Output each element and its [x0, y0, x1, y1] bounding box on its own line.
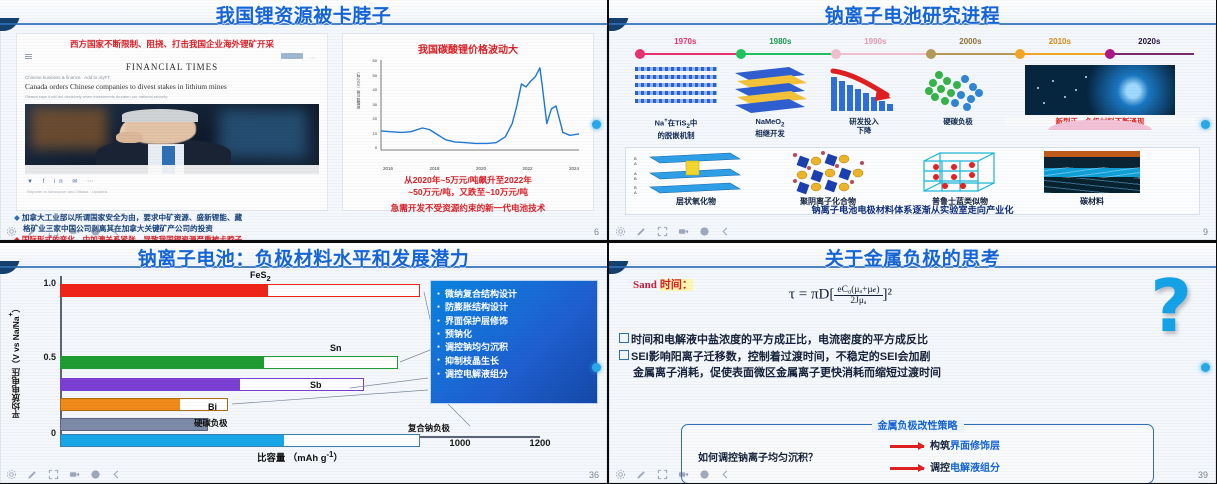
bar-outline: [60, 284, 420, 297]
square-bullet-icon: [619, 350, 629, 360]
formula-lhs: τ = πD[: [789, 286, 834, 302]
slide-title: 钠离子电池：负极材料水平和发展潜力: [0, 244, 607, 271]
bar-outline: [60, 434, 420, 447]
slide-thumbnail-anode-chart[interactable]: 钠离子电池：负极材料水平和发展潜力 平均放电电压（V vs Na/Na+） 1.…: [0, 243, 607, 483]
slide-thumbnail-metal-anode[interactable]: 关于金属负极的思考 Sand 时间： τ = πD[eC₀(μₐ+μ𝒸)2Jμₐ…: [609, 243, 1216, 483]
strategy-answers: 构筑界面修饰层 调控电解液组分: [890, 437, 1000, 481]
strategy-title-text: 金属负极改性策略: [872, 421, 964, 432]
xtick: 2022: [522, 166, 532, 171]
timeline-segment: [736, 53, 831, 55]
price-note-line3: 急需开发不受资源约束的新一代电池技术: [343, 202, 593, 214]
material-carbon: 碳材料: [1026, 151, 1158, 207]
carbon-micrograph: [1044, 151, 1140, 193]
strategy-question: 如何调控钠离子均匀沉积？: [698, 449, 818, 464]
xtick: 2016: [383, 166, 393, 171]
timeline-decade-label: 2000s: [959, 37, 981, 46]
timeline-decade-label: 2020s: [1138, 37, 1160, 46]
news-clipping: 西方国家不断限制、阻挠、打击我国企业海外锂矿开采 ⋯ FINANCIAL TIM…: [16, 33, 328, 211]
video-icon[interactable]: [678, 469, 689, 480]
timeline-decade-label: 1990s: [864, 37, 886, 46]
timeline-era-caption: NaMeO2相继开发: [723, 117, 817, 138]
timeline-node-1990s: [831, 49, 841, 59]
pen-icon[interactable]: [27, 226, 38, 237]
timeline-decade-label: 1970s: [674, 37, 696, 46]
ft-byline: Reporter in Vancouver and Ottawa · Updat…: [27, 189, 317, 194]
fullscreen-icon[interactable]: [48, 226, 59, 237]
bar-label-sb: Sb: [310, 380, 322, 390]
bar-sn: [60, 356, 398, 369]
slide-body: 平均放电电压（V vs Na/Na+） 1.0 0.5 0 200 400 60…: [0, 270, 607, 461]
point-text: 金属离子消耗，促使表面微区金属离子更快消耗而缩短过渡时间: [619, 365, 1204, 382]
timeline-era-2020s: 新型正、负极材料不断涌现: [1005, 65, 1195, 126]
bar-label-sn: Sn: [330, 343, 342, 353]
sand-label-en: Sand: [633, 279, 657, 291]
chart-ytick: 0.5: [20, 352, 56, 362]
bullet-text: 加拿大工业部以所谓国家安全为由，要求中矿资源、盛新锂能、藏: [22, 213, 242, 222]
research-timeline: 1970s 1980s 1990s 2000s 2010s 2020s: [625, 31, 1200, 143]
timeline-era-1980s: NaMeO2相继开发: [723, 65, 817, 138]
news-photo: [25, 104, 319, 174]
chart-xaxis-title: 比容量 （mAh g-1）: [60, 450, 540, 464]
bar-label-composite-sodium: 复合钠负极: [408, 422, 450, 434]
slide-toolbar[interactable]: [6, 469, 122, 480]
timeline-segment: [1015, 53, 1104, 55]
back-icon[interactable]: [111, 226, 122, 237]
page-number: 6: [594, 227, 599, 237]
gear-icon[interactable]: [615, 469, 626, 480]
bar-label-bi: Bi: [208, 402, 217, 412]
timeline-node-2020s: [1105, 49, 1115, 59]
square-bullet-icon: [619, 333, 629, 343]
photo-bg-left: [31, 107, 107, 149]
list-item: 预钠化: [437, 328, 597, 341]
prussian-blue-svg: [894, 151, 1026, 195]
chart-ytick: 0: [20, 428, 56, 438]
video-icon[interactable]: [678, 226, 689, 237]
layered-oxide-crystal: BA AB BA: [630, 151, 762, 195]
point-text: 时间和电解液中盐浓度的平方成正比，电流密度的平方成反比: [631, 334, 928, 346]
record-icon[interactable]: [699, 469, 710, 480]
timeline-era-1970s: Na+在TiS2中的脱嵌机制: [629, 65, 723, 140]
timeline-era-caption: 硬碳负极: [911, 117, 1005, 126]
slide-caption: 钠离子电池电极材料体系逐渐从实验室走向产业化: [609, 202, 1216, 216]
record-icon[interactable]: [699, 226, 710, 237]
timeline-decade-label: 1980s: [769, 37, 791, 46]
nanoparticle-image: [1005, 65, 1195, 115]
timeline-node-1970s: [635, 49, 645, 59]
page-number: 9: [1203, 227, 1208, 237]
more-icon: ⋯: [309, 55, 315, 62]
xtick: 2018: [429, 166, 439, 171]
ft-kicker: Chinese business & finance · Add to myFT: [25, 75, 319, 80]
timeline-segment: [926, 53, 1015, 55]
molecule-cluster-icon: [911, 65, 1005, 115]
timeline-node-2010s: [1015, 49, 1025, 59]
pen-icon[interactable]: [27, 469, 38, 480]
gear-icon[interactable]: [615, 226, 626, 237]
metal-anode-points: 时间和电解液中盐浓度的平方成正比，电流密度的平方成反比 SEI影响阳离子迁移数，…: [619, 332, 1204, 382]
price-note-line2: ~50万元/吨，又跌至~10万元/吨: [343, 186, 593, 198]
formula-fraction: eC₀(μₐ+μ𝒸)2Jμₐ: [834, 284, 882, 306]
svg-text:A: A: [634, 161, 637, 166]
list-item: SEI影响阳离子迁移数，控制着过渡时间，不稳定的SEI会加剧: [619, 349, 1204, 366]
answer-prefix: 构筑: [930, 441, 950, 452]
anode-capacity-chart: 平均放电电压（V vs Na/Na+） 1.0 0.5 0 200 400 60…: [0, 270, 607, 461]
video-icon[interactable]: [69, 226, 80, 237]
strategy-list: 微纳复合结构设计 防膨胀结构设计 界面保护层修饰 预钠化 调控钠均匀沉积 抑制枝…: [437, 288, 597, 381]
ft-nav-bar: ⋯: [25, 52, 319, 61]
ft-headline: Canada orders Chinese companies to dives…: [25, 82, 319, 91]
grid-gutter-horizontal: [0, 240, 1217, 243]
slide-body: 西方国家不断限制、阻挠、打击我国企业海外锂矿开采 ⋯ FINANCIAL TIM…: [0, 27, 607, 218]
photo-bg-right: [219, 109, 307, 158]
chart-xtick: 1000: [449, 438, 470, 449]
timeline-node-1980s: [736, 49, 746, 59]
layered-oxide-svg: BA AB BA: [630, 151, 762, 195]
layered-oxide-icon: [723, 65, 817, 115]
subscribe-button[interactable]: [281, 53, 303, 59]
chart-xtick: 1200: [529, 438, 550, 449]
gear-icon[interactable]: [6, 469, 17, 480]
back-icon[interactable]: [111, 469, 122, 480]
laser-pointer-dot: [592, 363, 601, 372]
nanoparticle-micrograph: [1025, 65, 1175, 115]
list-item: 微纳复合结构设计: [437, 288, 597, 301]
strategy-panel: 金属负极改性策略 如何调控钠离子均匀沉积？ 构筑界面修饰层 调控电解液组分: [681, 424, 1154, 483]
slide-title: 我国锂资源被卡脖子: [0, 1, 607, 28]
video-icon[interactable]: [69, 469, 80, 480]
photo-caption-strip: [25, 165, 319, 174]
bar-hard-carbon: [60, 418, 208, 431]
list-item: 构筑界面修饰层: [890, 437, 1000, 452]
layered-structure-icon: [629, 65, 723, 115]
laser-pointer-dot: [592, 120, 601, 129]
formula-denominator: 2Jμₐ: [834, 296, 882, 306]
fan-highlight-decoration: [1040, 118, 1160, 130]
answer-prefix: 调控: [930, 463, 950, 474]
pen-icon[interactable]: [636, 469, 647, 480]
hamburger-icon: [25, 54, 32, 59]
xtick: 2024: [569, 166, 579, 171]
slide-title: 钠离子电池研究进程: [609, 1, 1216, 28]
sand-time-label: Sand 时间：: [633, 276, 693, 292]
price-line-svg: [357, 58, 583, 158]
list-item: ◆加拿大工业部以所谓国家安全为由，要求中矿资源、盛新锂能、藏: [14, 212, 344, 223]
list-item: 时间和电解液中盐浓度的平方成正比，电流密度的平方成反比: [619, 332, 1204, 349]
list-item: 调控电解液组分: [890, 459, 1000, 474]
material-prussian-blue: 普鲁士蓝类似物: [894, 151, 1026, 207]
bar-outline: [60, 356, 398, 369]
list-item: 防膨胀结构设计: [437, 301, 597, 314]
material-polyanion: 聚阴离子化合物: [762, 151, 894, 207]
bar-label-fes2: FeS2: [250, 270, 271, 283]
slide-body: Sand 时间： τ = πD[eC₀(μₐ+μ𝒸)2Jμₐ]² ? 时间和电解…: [609, 270, 1216, 461]
back-icon[interactable]: [720, 469, 731, 480]
photo-hand: [116, 132, 142, 143]
page-number: 36: [589, 470, 599, 480]
polyanion-crystal: [762, 151, 894, 195]
sand-time-formula: τ = πD[eC₀(μₐ+μ𝒸)2Jμₐ]²: [789, 284, 892, 306]
timeline-rail: 1970s 1980s 1990s 2000s 2010s 2020s: [635, 53, 1194, 55]
laser-pointer-dot: [1201, 120, 1210, 129]
bar-label-hard-carbon: 硬碳负极: [194, 417, 228, 429]
material-layered-oxide: BA AB BA 层状氧化物: [630, 151, 762, 207]
sand-label-cn: 时间：: [660, 279, 693, 291]
strategy-infobox: 微纳复合结构设计 防膨胀结构设计 界面保护层修饰 预钠化 调控钠均匀沉积 抑制枝…: [430, 280, 598, 404]
list-item: 调控钠均匀沉积: [437, 341, 597, 354]
timeline-segment: [1105, 53, 1194, 55]
point-text: SEI影响阳离子迁移数，控制着过渡时间，不稳定的SEI会加剧: [631, 351, 930, 363]
slide-thumbnail-lithium[interactable]: 我国锂资源被卡脖子 西方国家不断限制、阻挠、打击我国企业海外锂矿开采 ⋯ FIN…: [0, 0, 607, 240]
slide-thumbnail-timeline[interactable]: 钠离子电池研究进程 1970s: [609, 0, 1216, 240]
price-chart-title: 我国碳酸锂价格波动大: [343, 41, 593, 56]
slide-toolbar[interactable]: [615, 226, 731, 237]
ft-masthead: FINANCIAL TIMES: [17, 62, 327, 72]
red-arrow-icon: [890, 445, 924, 448]
bar-composite-sodium: [60, 434, 420, 447]
xtick: 2020: [476, 166, 486, 171]
carbon-material-image: [1026, 151, 1158, 195]
news-chinese-headline: 西方国家不断限制、阻挠、打击我国企业海外锂矿开采: [19, 38, 325, 50]
ft-standfirst: Ottawa says it will act decisively when …: [25, 94, 319, 99]
red-down-arrow-icon: [827, 67, 897, 103]
price-chart-xticks: 2016 2018 2020 2022 2024: [383, 166, 579, 171]
price-note-line1: 从2020年~5万元/吨飙升至2022年: [343, 174, 593, 186]
slide-body: 1970s 1980s 1990s 2000s 2010s 2020s: [609, 27, 1216, 218]
record-icon[interactable]: [90, 469, 101, 480]
answer-highlight: 电解液组分: [950, 463, 1000, 474]
timeline-era-caption: 研发投入下降: [817, 117, 911, 136]
lithium-price-panel: 我国碳酸锂价格波动大 碳酸锂价格（万元/吨） 60 50 40 30 20 10…: [342, 33, 594, 211]
timeline-era-2000s: 硬碳负极: [911, 65, 1005, 126]
laser-pointer-dot: [1201, 363, 1210, 372]
slide-title: 关于金属负极的思考: [609, 244, 1216, 271]
screenshot-stage: 我国锂资源被卡脖子 西方国家不断限制、阻挠、打击我国企业海外锂矿开采 ⋯ FIN…: [0, 0, 1217, 484]
slide-toolbar[interactable]: [615, 469, 731, 480]
declining-bars-icon: [817, 65, 911, 115]
bar-outline: [60, 398, 228, 411]
gear-icon[interactable]: [6, 226, 17, 237]
nameo2-structure-svg: [723, 65, 817, 115]
bar-bi: [60, 398, 228, 411]
list-item: 抑制枝晶生长: [437, 355, 597, 368]
bar-outline: [60, 418, 208, 431]
formula-rhs: ]²: [883, 286, 893, 302]
list-item: 调控电解液组分: [437, 368, 597, 381]
timeline-era-1990s: 研发投入下降: [817, 65, 911, 136]
strategy-panel-title: 金属负极改性策略: [682, 417, 1153, 432]
timeline-node-2000s: [926, 49, 936, 59]
bar-fes2: [60, 284, 420, 297]
record-icon[interactable]: [90, 226, 101, 237]
bullet-marker-icon: ◆: [14, 213, 20, 222]
page-number: 39: [1198, 470, 1208, 480]
green-blue-cluster-svg: [911, 65, 1005, 115]
timeline-segment: [635, 53, 736, 55]
svg-text:B: B: [634, 176, 637, 181]
fullscreen-icon[interactable]: [657, 226, 668, 237]
layer-stack: [635, 67, 717, 107]
pen-icon[interactable]: [636, 226, 647, 237]
red-arrow-icon: [890, 467, 924, 470]
share-icons[interactable]: ▼ f in ✉ ⋯: [27, 178, 317, 185]
photo-hair: [122, 109, 198, 122]
fullscreen-icon[interactable]: [657, 469, 668, 480]
back-icon[interactable]: [720, 226, 731, 237]
timeline-decade-label: 2010s: [1049, 37, 1071, 46]
polyanion-svg: [762, 151, 894, 195]
formula-numerator: eC₀(μₐ+μ𝒸): [834, 284, 882, 296]
timeline-era-caption: Na+在TiS2中的脱嵌机制: [629, 117, 723, 140]
timeline-segment: [831, 53, 926, 55]
chart-ytick: 1.0: [20, 278, 56, 288]
slide-toolbar[interactable]: [6, 226, 122, 237]
answer-highlight: 界面修饰层: [950, 441, 1000, 452]
svg-text:A: A: [634, 190, 637, 195]
list-item: 界面保护层修饰: [437, 315, 597, 328]
list-item: 金属离子消耗，促使表面微区金属离子更快消耗而缩短过渡时间: [619, 365, 1204, 382]
fullscreen-icon[interactable]: [48, 469, 59, 480]
prussian-blue-cube: [894, 151, 1026, 195]
price-chart-plot: 碳酸锂价格（万元/吨） 60 50 40 30 20 10 0: [357, 58, 583, 162]
